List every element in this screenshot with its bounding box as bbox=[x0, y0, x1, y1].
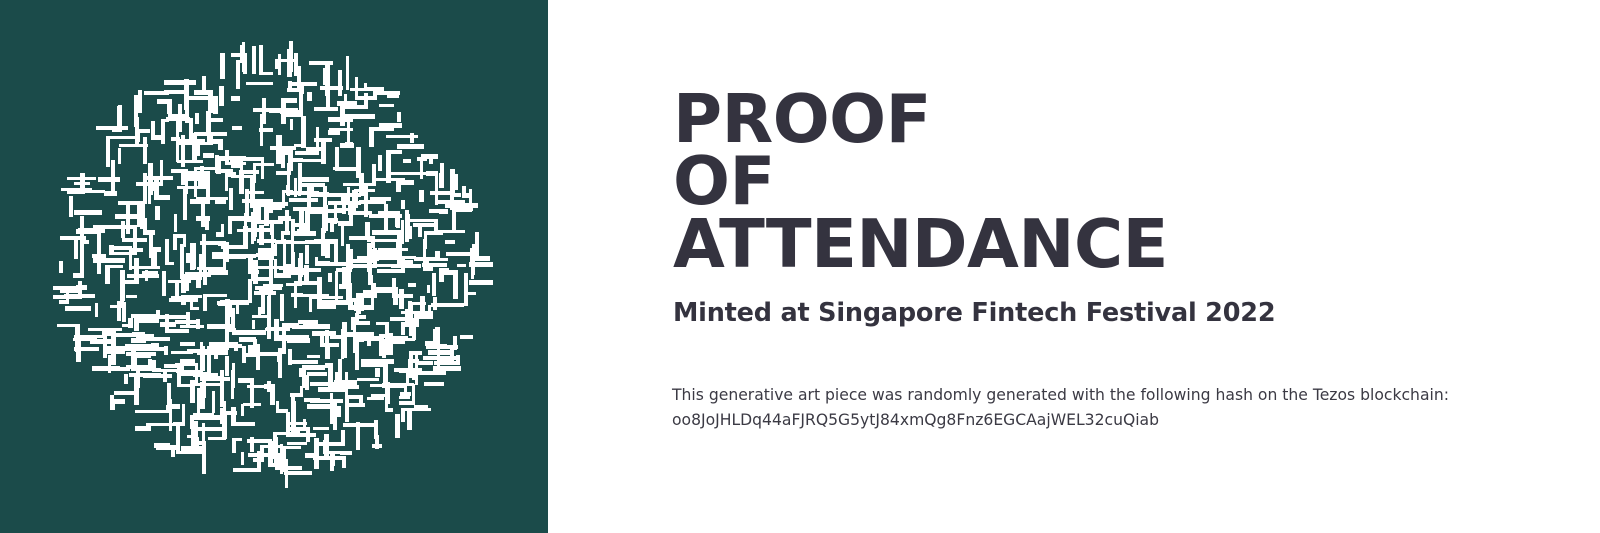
description-line-1: This generative art piece was randomly g… bbox=[672, 383, 1552, 408]
title-line-3: ATTENDANCE bbox=[673, 213, 1493, 275]
title-line-1: PROOF bbox=[673, 88, 1493, 150]
subtitle: Minted at Singapore Fintech Festival 202… bbox=[673, 298, 1275, 329]
hash-value: oo8JoJHLDq44aFJRQ5G5ytJ84xmQg8Fnz6EGCAaj… bbox=[672, 408, 1552, 433]
proof-of-attendance-card: PROOF OF ATTENDANCE Minted at Singapore … bbox=[0, 0, 1600, 533]
info-panel: PROOF OF ATTENDANCE Minted at Singapore … bbox=[548, 0, 1600, 533]
description-text: This generative art piece was randomly g… bbox=[672, 383, 1552, 434]
generative-art-stroke-cluster-icon bbox=[0, 0, 548, 533]
generative-art-panel bbox=[0, 0, 548, 533]
page-title: PROOF OF ATTENDANCE bbox=[673, 88, 1493, 275]
title-line-2: OF bbox=[673, 150, 1493, 212]
